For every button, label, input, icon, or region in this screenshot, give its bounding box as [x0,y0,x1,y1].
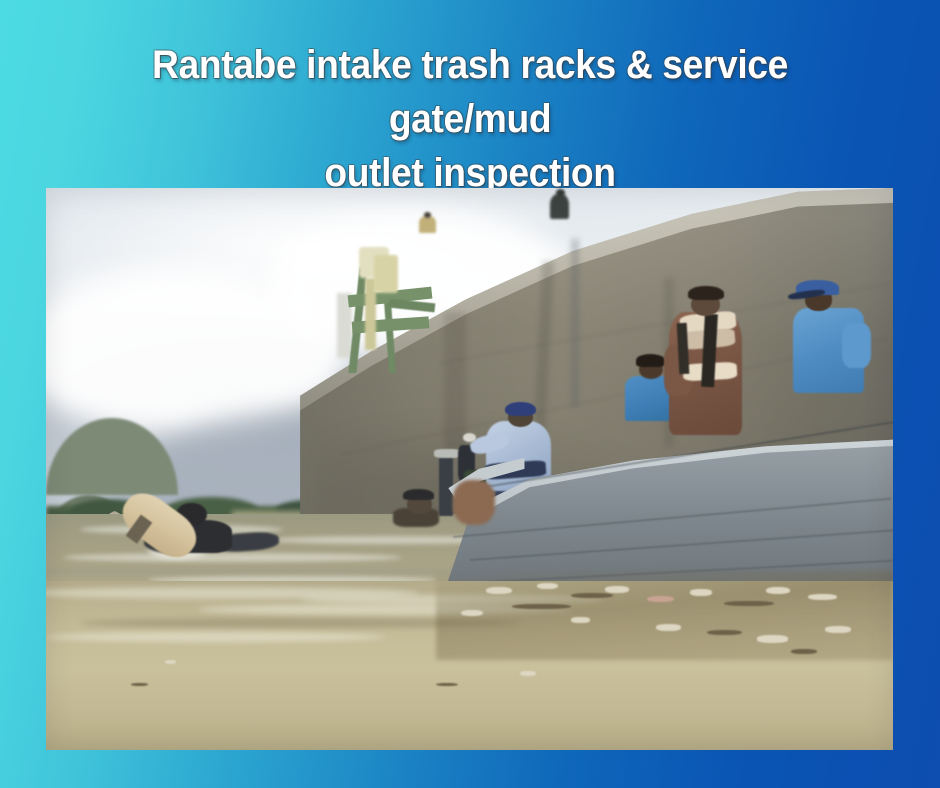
debris-item [656,624,681,631]
page-title: Rantabe intake trash racks & service gat… [0,38,940,200]
debris-item [724,601,775,607]
crane-housing [374,255,398,294]
diver-pole [439,454,453,516]
hill [46,418,178,495]
water-ripple [46,632,385,642]
inspection-photo [46,188,893,750]
debris-item [486,587,511,594]
person-on-wall [419,216,436,233]
title-line-1: Rantabe intake trash racks & service gat… [76,38,865,146]
crew-brown-jacket-hair [688,286,724,301]
debris-item [520,671,535,676]
gantry-crane [326,244,436,373]
diver-pole-head [434,449,461,458]
debris-item [757,635,787,642]
crew-blue-cap-arm [842,323,871,368]
person-on-wall [550,194,569,220]
debris-item [690,589,712,596]
navy-beanie [505,402,535,417]
wall-stain [571,239,579,408]
debris-item [605,586,629,593]
debris-item [131,683,148,686]
debris-item [537,583,557,590]
crane-arm [389,299,436,313]
diver-hood [403,489,433,500]
debris-item [766,587,790,594]
debris-item [165,660,177,664]
boat-rope [453,480,495,525]
debris-item [571,617,590,623]
debris-item [461,610,483,616]
debris-item [647,596,674,602]
debris-item [825,626,850,633]
debris-item [791,649,816,654]
debris-shoreline [436,570,893,660]
slide-canvas: Rantabe intake trash racks & service gat… [0,0,940,788]
debris-item [571,593,613,599]
person-on-wall-head [556,189,565,197]
crew-blue-tshirt-hair [636,354,665,366]
